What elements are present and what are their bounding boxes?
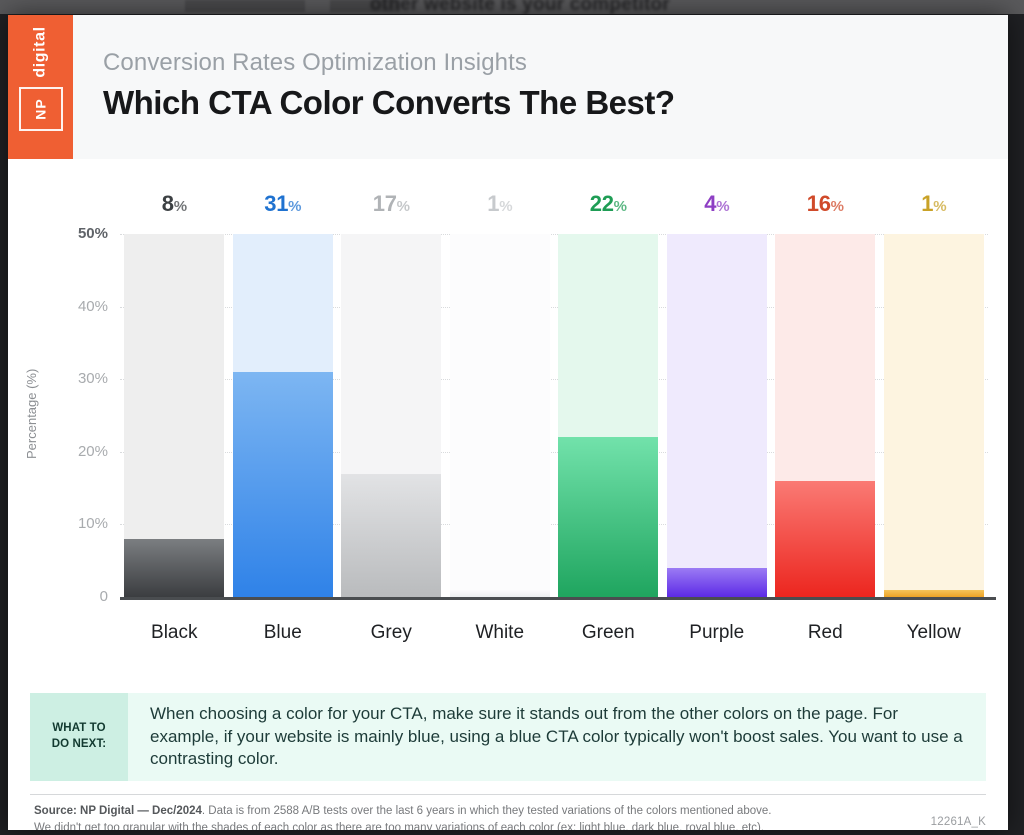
bar-fill: [450, 590, 550, 597]
bar-column[interactable]: [775, 234, 875, 597]
bar-value-label: 1%: [880, 191, 989, 217]
bar-value-percent-sign: %: [499, 198, 512, 215]
x-axis-label-blue: Blue: [229, 622, 338, 644]
bar-column[interactable]: [558, 234, 658, 597]
bar-value-number: 4: [704, 191, 716, 216]
footer-line2: We didn't get too granular with the shad…: [34, 822, 764, 830]
bar-fill: [775, 481, 875, 597]
y-axis-tick: 20%: [48, 443, 108, 460]
bar-value-percent-sign: %: [716, 198, 729, 215]
y-axis-tick: 10%: [48, 515, 108, 532]
callout-text: When choosing a color for your CTA, make…: [128, 693, 986, 781]
footer-source-label: Source:: [34, 805, 77, 817]
x-axis-label-grey: Grey: [337, 622, 446, 644]
bar-value-number: 1: [487, 191, 499, 216]
bar-value-percent-sign: %: [174, 198, 187, 215]
callout-tab: WHAT TO DO NEXT:: [30, 693, 128, 781]
bar-value-label: 31%: [229, 191, 338, 217]
y-axis-label: Percentage (%): [24, 369, 39, 459]
callout-tab-line2: DO NEXT:: [52, 738, 106, 750]
bar-value-number: 22: [590, 191, 614, 216]
bar-fill: [124, 539, 224, 597]
bar-value-number: 16: [807, 191, 831, 216]
source-footnote: Source: NP Digital — Dec/2024. Data is f…: [34, 803, 874, 830]
logo-np-text: NP: [32, 98, 48, 119]
bar-value-number: 31: [264, 191, 288, 216]
x-axis-label-purple: Purple: [663, 622, 772, 644]
logo-np-badge: NP: [19, 87, 63, 131]
footer-source-value: NP Digital — Dec/2024: [80, 805, 202, 817]
bar-value-number: 1: [921, 191, 933, 216]
bar-value-number: 17: [373, 191, 397, 216]
x-axis-label-white: White: [446, 622, 555, 644]
bar-value-number: 8: [162, 191, 174, 216]
footer-divider: [30, 794, 986, 795]
bar-fill: [341, 474, 441, 597]
bar-value-label: 8%: [120, 191, 229, 217]
x-axis-label-black: Black: [120, 622, 229, 644]
y-axis-tick: 30%: [48, 370, 108, 387]
x-axis-label-green: Green: [554, 622, 663, 644]
bar-value-percent-sign: %: [933, 198, 946, 215]
bar-value-label: 22%: [554, 191, 663, 217]
page-title: Which CTA Color Converts The Best?: [103, 84, 675, 122]
what-to-do-next-callout: WHAT TO DO NEXT: When choosing a color f…: [30, 693, 986, 781]
bar-value-label: 17%: [337, 191, 446, 217]
backdrop-chip: [185, 0, 305, 12]
bar-column[interactable]: [233, 234, 333, 597]
bar-value-label: 4%: [663, 191, 772, 217]
backdrop-obscured-text: other website is your competitor: [370, 0, 790, 16]
bar-chart: Percentage (%) 010%20%30%40%50%8%Black31…: [8, 159, 1008, 669]
card-header: digital NP Conversion Rates Optimization…: [8, 15, 1008, 159]
y-axis-tick: 40%: [48, 298, 108, 315]
logo-wordmark: digital: [32, 26, 50, 77]
bar-column[interactable]: [884, 234, 984, 597]
bar-value-percent-sign: %: [831, 198, 844, 215]
bar-track: [884, 234, 984, 597]
bar-value-label: 1%: [446, 191, 555, 217]
bar-fill: [884, 590, 984, 597]
x-axis-line: [120, 597, 996, 600]
callout-tab-line1: WHAT TO: [52, 722, 105, 734]
y-axis-tick: 0: [48, 588, 108, 605]
bar-column[interactable]: [341, 234, 441, 597]
plot-area: [120, 234, 988, 597]
bar-fill: [667, 568, 767, 597]
bar-fill: [233, 372, 333, 597]
bar-column[interactable]: [667, 234, 767, 597]
x-axis-label-yellow: Yellow: [880, 622, 989, 644]
bar-column[interactable]: [124, 234, 224, 597]
bar-value-label: 16%: [771, 191, 880, 217]
bar-value-percent-sign: %: [614, 198, 627, 215]
bar-track: [667, 234, 767, 597]
bar-value-percent-sign: %: [397, 198, 410, 215]
y-axis-tick: 50%: [48, 225, 108, 242]
bar-column[interactable]: [450, 234, 550, 597]
footer-asset-id: 12261A_K: [931, 816, 986, 828]
bar-fill: [558, 437, 658, 597]
infographic-card: digital NP Conversion Rates Optimization…: [8, 15, 1008, 830]
np-digital-logo: digital NP: [8, 15, 73, 159]
bar-track: [450, 234, 550, 597]
footer-line1-rest: . Data is from 2588 A/B tests over the l…: [202, 805, 772, 817]
header-eyebrow: Conversion Rates Optimization Insights: [103, 49, 527, 77]
callout-tab-label: WHAT TO DO NEXT:: [52, 721, 106, 752]
bar-value-percent-sign: %: [288, 198, 301, 215]
x-axis-label-red: Red: [771, 622, 880, 644]
